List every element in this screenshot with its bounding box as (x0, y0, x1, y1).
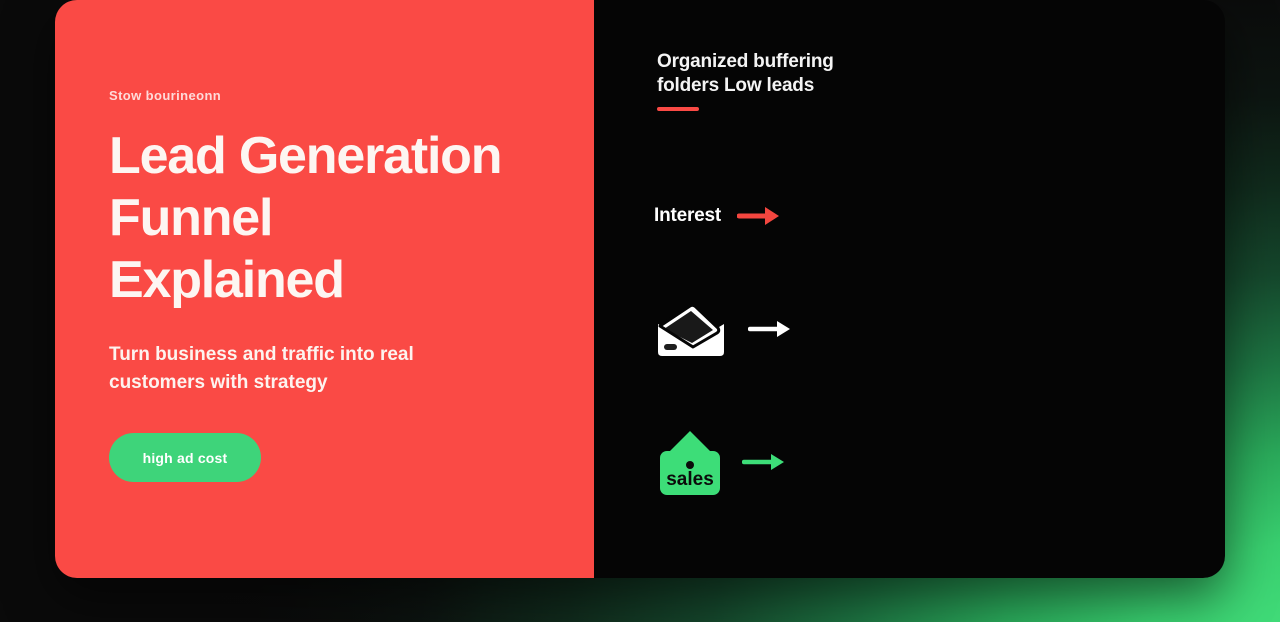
rail-label-interest: Interest (654, 205, 721, 227)
headline-line-2: Funnel (109, 187, 594, 249)
mail-icon (654, 300, 732, 358)
arrow-right-icon (748, 316, 794, 342)
rail-row-interest[interactable]: Interest (654, 203, 783, 229)
rail-row-sales[interactable]: sales (654, 425, 788, 499)
diagram-heading-block: Organized buffering folders Low leads (657, 50, 834, 111)
diagram-heading: Organized buffering folders Low leads (657, 50, 834, 98)
arrow-right-icon (742, 449, 788, 475)
presentation-card: Stow bourineonn Lead Generation Funnel E… (55, 0, 1225, 578)
heading-underline (657, 107, 699, 111)
left-content-panel: Stow bourineonn Lead Generation Funnel E… (55, 0, 594, 578)
slide-canvas: Stow bourineonn Lead Generation Funnel E… (0, 0, 1280, 622)
headline-line-3: Explained (109, 249, 594, 311)
subtitle-text: Turn business and traffic into real cust… (109, 341, 439, 397)
eyebrow-text: Stow bourineonn (109, 88, 594, 103)
right-diagram-panel: Organized buffering folders Low leads In… (594, 0, 1225, 578)
arrow-right-icon (737, 203, 783, 229)
diagram-heading-line-1: Organized buffering (657, 50, 834, 74)
cta-button[interactable]: high ad cost (109, 433, 261, 482)
shopping-bag-icon: sales (654, 425, 726, 499)
rail-row-capture[interactable] (654, 300, 794, 358)
page-title: Lead Generation Funnel Explained (109, 125, 594, 311)
bag-label: sales (666, 469, 714, 490)
headline-line-1: Lead Generation (109, 125, 594, 187)
diagram-heading-line-2: folders Low leads (657, 74, 834, 98)
